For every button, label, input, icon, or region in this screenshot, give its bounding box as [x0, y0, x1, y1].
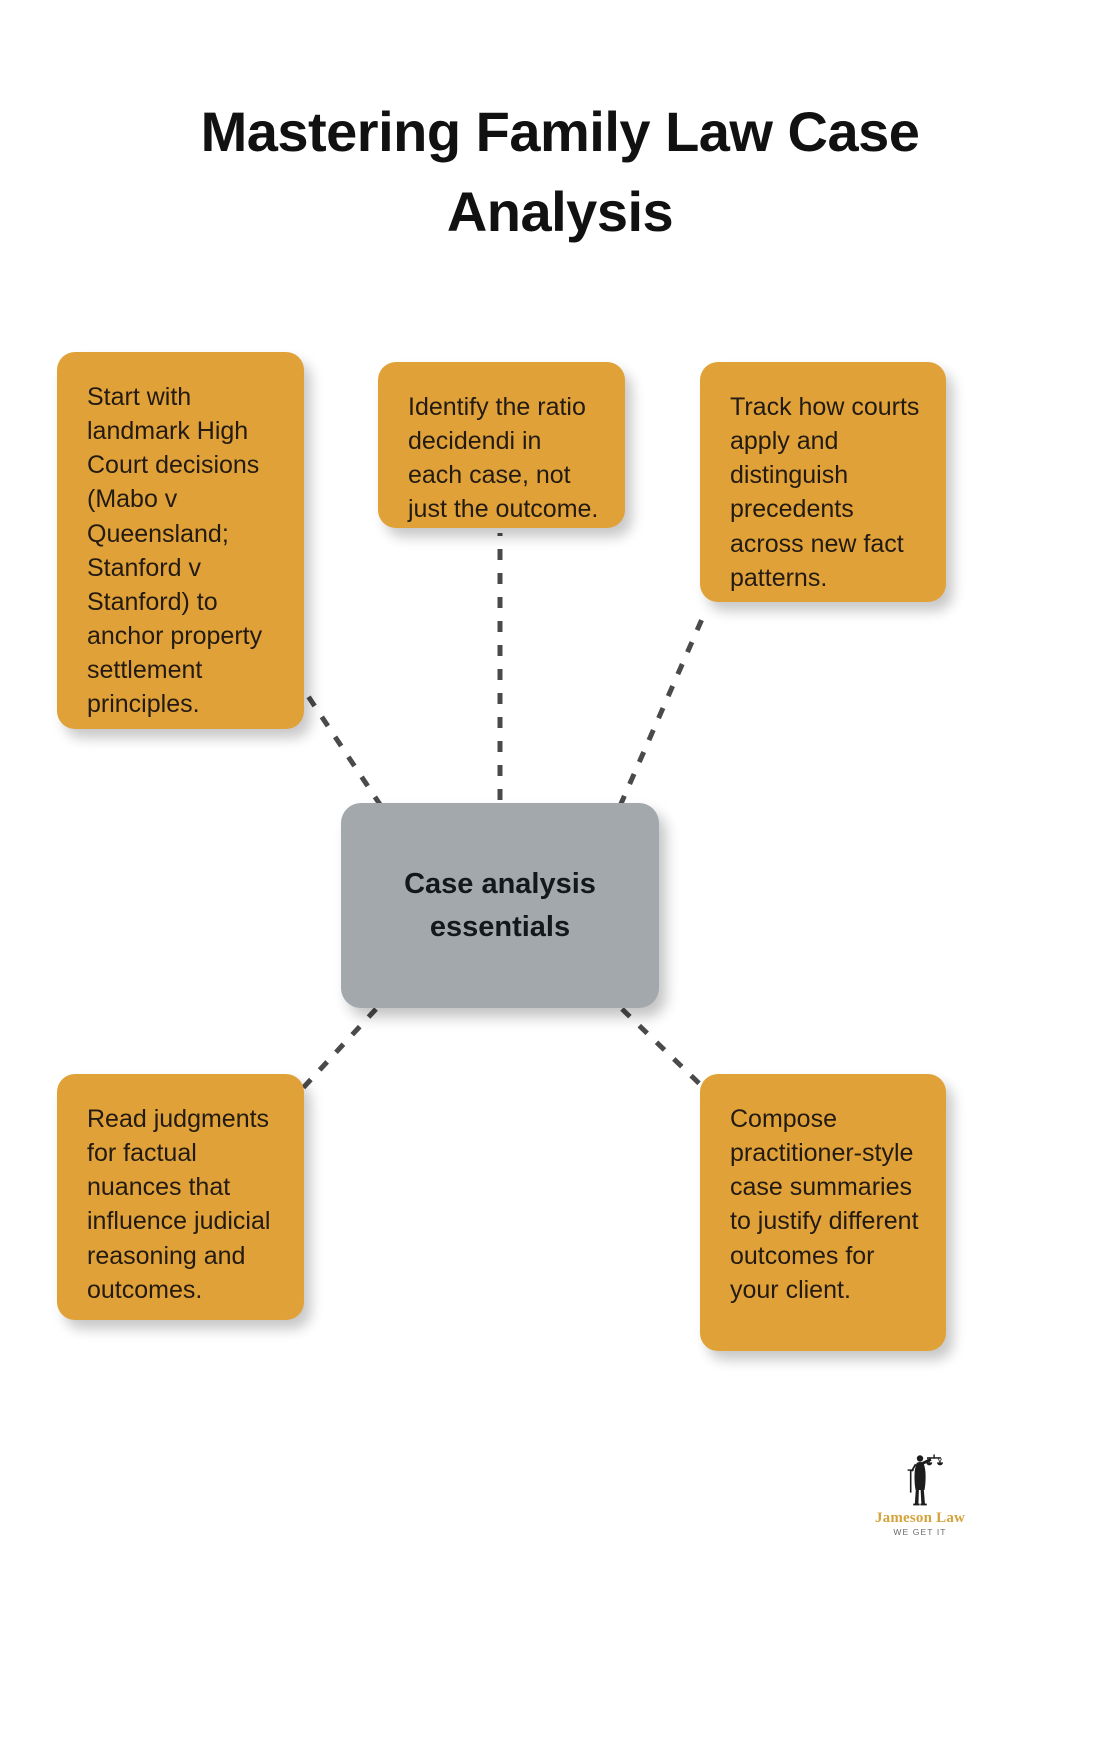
mindmap-node-top-left: Start with landmark High Court decisions… [57, 352, 304, 729]
mindmap-center-label: Case analysis essentials [404, 863, 596, 947]
page-title: Mastering Family Law Case Analysis [110, 92, 1010, 251]
brand-logo: Jameson Law WE GET IT [860, 1452, 980, 1537]
mindmap-node-top-right: Track how courts apply and distinguish p… [700, 362, 946, 602]
mindmap-node-top-center: Identify the ratio decidendi in each cas… [378, 362, 625, 528]
connector-center-to-node-0 [304, 690, 381, 806]
mindmap-node-bottom-left: Read judgments for factual nuances that … [57, 1074, 304, 1320]
infographic-canvas: Mastering Family Law Case Analysis Start… [0, 0, 1120, 1760]
mindmap-center-node: Case analysis essentials [341, 803, 659, 1008]
mindmap-node-bottom-right: Compose practitioner-style case summarie… [700, 1074, 946, 1351]
logo-tagline: WE GET IT [860, 1528, 980, 1537]
connector-center-to-node-2 [620, 610, 706, 806]
logo-name: Jameson Law [860, 1510, 980, 1527]
connector-center-to-node-4 [622, 1009, 706, 1090]
lady-justice-scales-icon [894, 1452, 946, 1508]
connector-center-to-node-3 [303, 1009, 376, 1088]
